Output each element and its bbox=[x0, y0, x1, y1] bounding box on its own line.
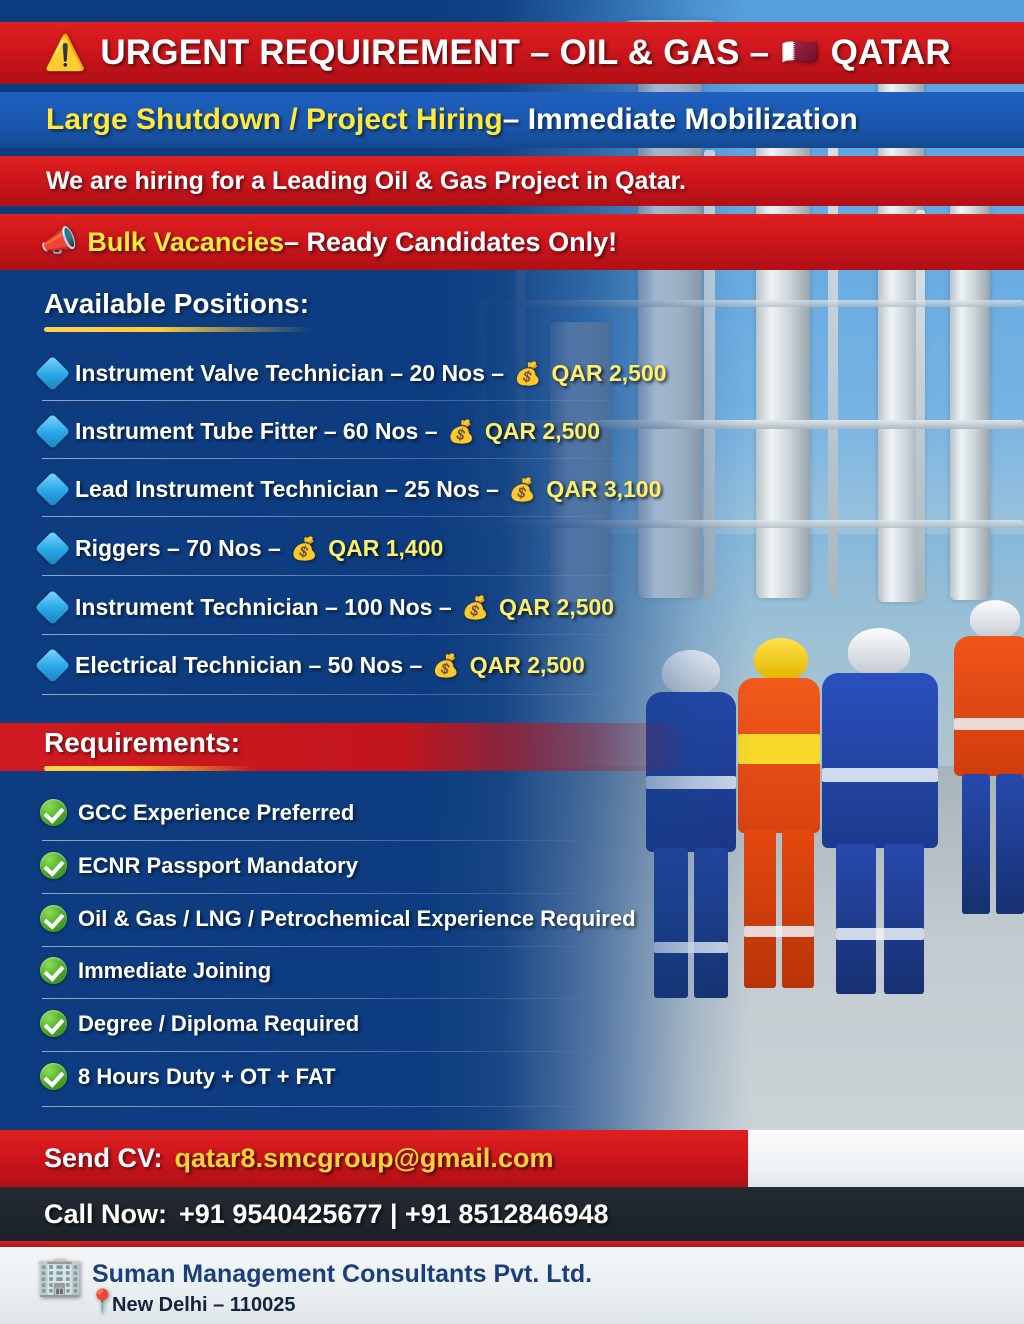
blue-diamond-icon bbox=[35, 414, 70, 449]
position-salary: QAR 2,500 bbox=[499, 594, 614, 621]
position-salary: QAR 2,500 bbox=[551, 360, 666, 387]
subhead-1-highlight: Large Shutdown / Project Hiring bbox=[46, 103, 503, 137]
requirement-row: 8 Hours Duty + OT + FAT bbox=[40, 1063, 336, 1090]
requirement-row: ECNR Passport Mandatory bbox=[40, 852, 358, 879]
subhead-3-highlight: Bulk Vacancies bbox=[87, 227, 284, 258]
money-bag-icon: 💰 bbox=[462, 597, 489, 619]
money-bag-icon: 💰 bbox=[509, 479, 536, 501]
row-divider bbox=[42, 893, 602, 894]
green-check-icon bbox=[40, 1010, 67, 1037]
worker-figure-blue bbox=[820, 628, 940, 1010]
office-building-icon: 🏢 bbox=[36, 1258, 83, 1296]
phone-numbers[interactable]: +91 9540425677 | +91 8512846948 bbox=[179, 1199, 608, 1230]
green-check-icon bbox=[40, 957, 67, 984]
position-title: Instrument Tube Fitter – 60 Nos – bbox=[75, 418, 438, 445]
positions-heading-underline bbox=[44, 327, 312, 332]
row-divider bbox=[42, 1051, 602, 1052]
subhead-1-rest: – Immediate Mobilization bbox=[503, 103, 858, 137]
green-check-icon bbox=[40, 799, 67, 826]
position-title: Instrument Valve Technician – 20 Nos – bbox=[75, 360, 504, 387]
position-row: Instrument Technician – 100 Nos – 💰 QAR … bbox=[40, 594, 614, 621]
position-row: Instrument Tube Fitter – 60 Nos – 💰 QAR … bbox=[40, 418, 600, 445]
requirement-row: Degree / Diploma Required bbox=[40, 1010, 359, 1037]
position-salary: QAR 1,400 bbox=[328, 535, 443, 562]
megaphone-icon: 📣 bbox=[40, 227, 77, 257]
requirement-text: Oil & Gas / LNG / Petrochemical Experien… bbox=[78, 906, 636, 932]
subhead-2-row: We are hiring for a Leading Oil & Gas Pr… bbox=[0, 156, 1024, 206]
position-row: Instrument Valve Technician – 20 Nos – 💰… bbox=[40, 360, 667, 387]
company-location: New Delhi – 110025 bbox=[112, 1294, 295, 1317]
green-check-icon bbox=[40, 1063, 67, 1090]
money-bag-icon: 💰 bbox=[448, 421, 475, 443]
page-title-row: ⚠️ URGENT REQUIREMENT – OIL & GAS – 🇶🇦 Q… bbox=[0, 22, 1024, 84]
position-title: Instrument Technician – 100 Nos – bbox=[75, 594, 452, 621]
positions-heading: Available Positions: bbox=[44, 288, 309, 325]
poster-root: ⚠️ URGENT REQUIREMENT – OIL & GAS – 🇶🇦 Q… bbox=[0, 0, 1024, 1324]
row-divider bbox=[42, 458, 642, 459]
position-title: Electrical Technician – 50 Nos – bbox=[75, 652, 422, 679]
requirement-row: GCC Experience Preferred bbox=[40, 799, 354, 826]
requirements-heading-block: Requirements: bbox=[44, 727, 1024, 771]
row-divider bbox=[42, 400, 642, 401]
position-row: Electrical Technician – 50 Nos – 💰 QAR 2… bbox=[40, 652, 585, 679]
requirement-row: Oil & Gas / LNG / Petrochemical Experien… bbox=[40, 905, 636, 932]
country-label: QATAR bbox=[831, 33, 951, 73]
green-check-icon bbox=[40, 905, 67, 932]
row-divider bbox=[42, 516, 642, 517]
send-cv-label: Send CV: bbox=[44, 1143, 163, 1174]
subhead-3-row: 📣 Bulk Vacancies – Ready Candidates Only… bbox=[0, 214, 1024, 270]
requirement-text: ECNR Passport Mandatory bbox=[78, 853, 358, 879]
position-row: Lead Instrument Technician – 25 Nos – 💰 … bbox=[40, 476, 661, 503]
blue-diamond-icon bbox=[35, 590, 70, 625]
requirements-heading-underline bbox=[44, 766, 254, 771]
requirement-text: Immediate Joining bbox=[78, 958, 271, 984]
position-salary: QAR 2,500 bbox=[470, 652, 585, 679]
subhead-3-rest: – Ready Candidates Only! bbox=[284, 227, 617, 258]
qatar-flag-icon: 🇶🇦 bbox=[781, 38, 818, 68]
subhead-2-text: We are hiring for a Leading Oil & Gas Pr… bbox=[46, 167, 686, 196]
row-divider bbox=[42, 840, 602, 841]
blue-diamond-icon bbox=[35, 472, 70, 507]
requirement-text: GCC Experience Preferred bbox=[78, 800, 354, 826]
warning-triangle-icon: ⚠️ bbox=[44, 36, 86, 70]
blue-diamond-icon bbox=[35, 356, 70, 391]
position-title: Lead Instrument Technician – 25 Nos – bbox=[75, 476, 499, 503]
positions-heading-block: Available Positions: bbox=[44, 288, 1024, 332]
call-now-row: Call Now: +91 9540425677 | +91 851284694… bbox=[0, 1187, 1024, 1241]
page-title: URGENT REQUIREMENT – OIL & GAS – bbox=[100, 33, 769, 73]
row-divider bbox=[42, 998, 602, 999]
requirement-text: 8 Hours Duty + OT + FAT bbox=[78, 1064, 336, 1090]
green-check-icon bbox=[40, 852, 67, 879]
requirement-row: Immediate Joining bbox=[40, 957, 271, 984]
position-title: Riggers – 70 Nos – bbox=[75, 535, 281, 562]
requirements-heading: Requirements: bbox=[44, 727, 240, 764]
call-now-label: Call Now: bbox=[44, 1199, 167, 1230]
row-divider bbox=[42, 634, 642, 635]
blue-diamond-icon bbox=[35, 531, 70, 566]
company-name: Suman Management Consultants Pvt. Ltd. bbox=[92, 1260, 592, 1289]
row-divider bbox=[42, 946, 602, 947]
subhead-1-row: Large Shutdown / Project Hiring – Immedi… bbox=[0, 92, 1024, 148]
row-divider bbox=[42, 694, 642, 695]
money-bag-icon: 💰 bbox=[514, 363, 541, 385]
send-cv-row: Send CV: qatar8.smcgroup@gmail.com bbox=[0, 1130, 1024, 1187]
row-divider bbox=[42, 1106, 602, 1107]
requirement-text: Degree / Diploma Required bbox=[78, 1011, 359, 1037]
row-divider bbox=[42, 575, 642, 576]
position-row: Riggers – 70 Nos – 💰 QAR 1,400 bbox=[40, 535, 443, 562]
email-address[interactable]: qatar8.smcgroup@gmail.com bbox=[175, 1143, 554, 1174]
blue-diamond-icon bbox=[35, 648, 70, 683]
money-bag-icon: 💰 bbox=[432, 655, 459, 677]
position-salary: QAR 3,100 bbox=[546, 476, 661, 503]
money-bag-icon: 💰 bbox=[291, 538, 318, 560]
position-salary: QAR 2,500 bbox=[485, 418, 600, 445]
